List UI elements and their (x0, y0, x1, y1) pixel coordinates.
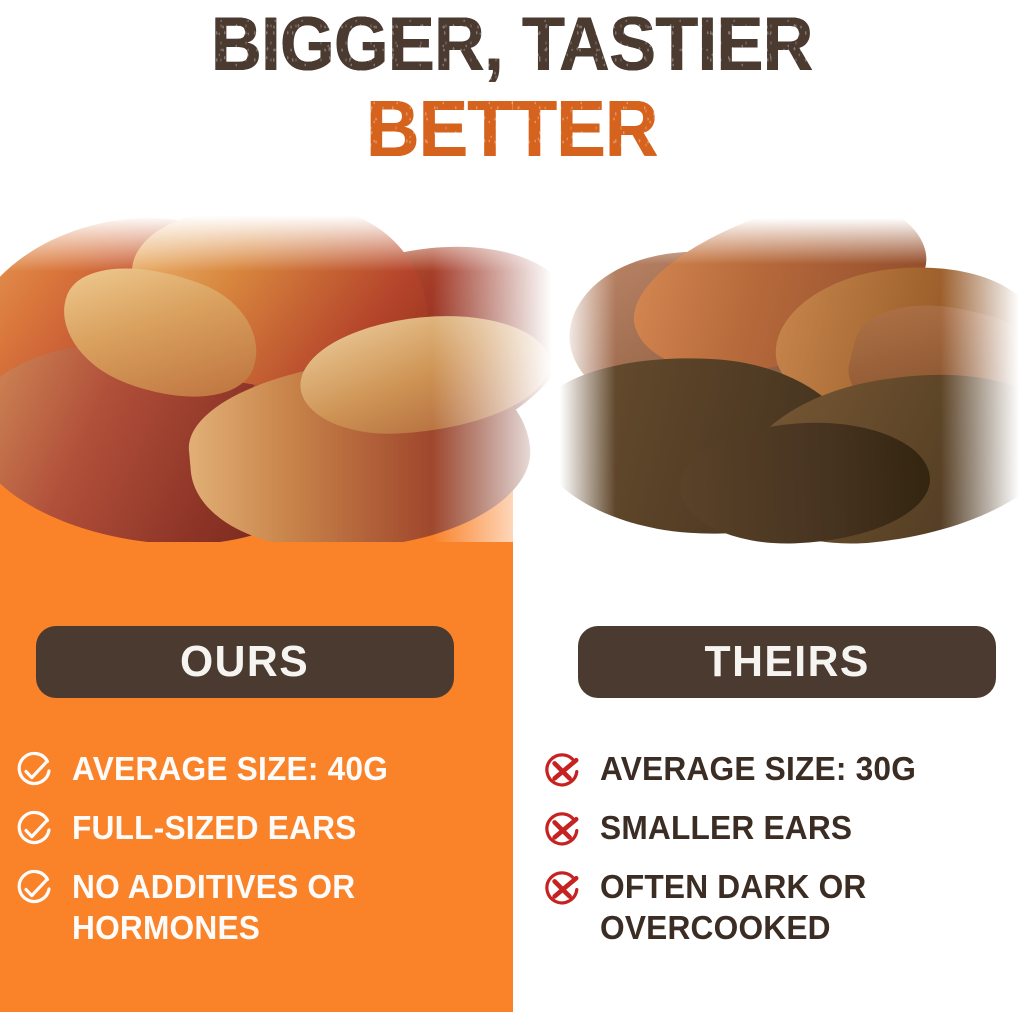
list-item: FULL-SIZED EARS (12, 807, 504, 852)
check-circle-icon (12, 749, 56, 793)
theirs-product-photo: Pile of smaller dark brown overcooked pi… (560, 218, 1024, 548)
ours-product-photo: Pile of large golden-amber roasted pig e… (0, 212, 600, 542)
cross-circle-icon (540, 749, 584, 793)
theirs-feature-text: AVERAGE SIZE: 30G (600, 748, 916, 789)
headline-line-1: BIGGER, TASTIER (41, 0, 983, 86)
list-item: AVERAGE SIZE: 30G (540, 748, 1024, 793)
ours-feature-text: FULL-SIZED EARS (72, 807, 356, 848)
comparison-infographic: BIGGER, TASTIER BETTER Pile of large gol… (0, 0, 1024, 1012)
ours-feature-text: AVERAGE SIZE: 40G (72, 748, 388, 789)
ours-feature-text: NO ADDITIVES OR HORMONES (72, 866, 487, 948)
theirs-feature-list: AVERAGE SIZE: 30G SMALLER EARS OFTEN (540, 748, 1024, 962)
ours-feature-list: AVERAGE SIZE: 40G FULL-SIZED EARS NO ADD… (12, 748, 504, 962)
headline-line-2: BETTER (41, 86, 983, 172)
theirs-feature-text: OFTEN DARK OR OVERCOOKED (600, 866, 1007, 948)
check-circle-icon (12, 808, 56, 852)
list-item: NO ADDITIVES OR HORMONES (12, 866, 504, 948)
cross-circle-icon (540, 808, 584, 852)
ours-badge: OURS (36, 626, 454, 698)
theirs-badge: THEIRS (578, 626, 996, 698)
ours-badge-label: OURS (180, 637, 309, 687)
list-item: OFTEN DARK OR OVERCOOKED (540, 866, 1024, 948)
theirs-feature-text: SMALLER EARS (600, 807, 852, 848)
theirs-photo-alt: Pile of smaller dark brown overcooked pi… (560, 218, 561, 219)
list-item: AVERAGE SIZE: 40G (12, 748, 504, 793)
cross-circle-icon (540, 867, 584, 911)
headline-block: BIGGER, TASTIER BETTER (0, 0, 1024, 190)
check-circle-icon (12, 867, 56, 911)
list-item: SMALLER EARS (540, 807, 1024, 852)
ours-photo-alt: Pile of large golden-amber roasted pig e… (0, 212, 1, 213)
theirs-badge-label: THEIRS (704, 637, 869, 687)
